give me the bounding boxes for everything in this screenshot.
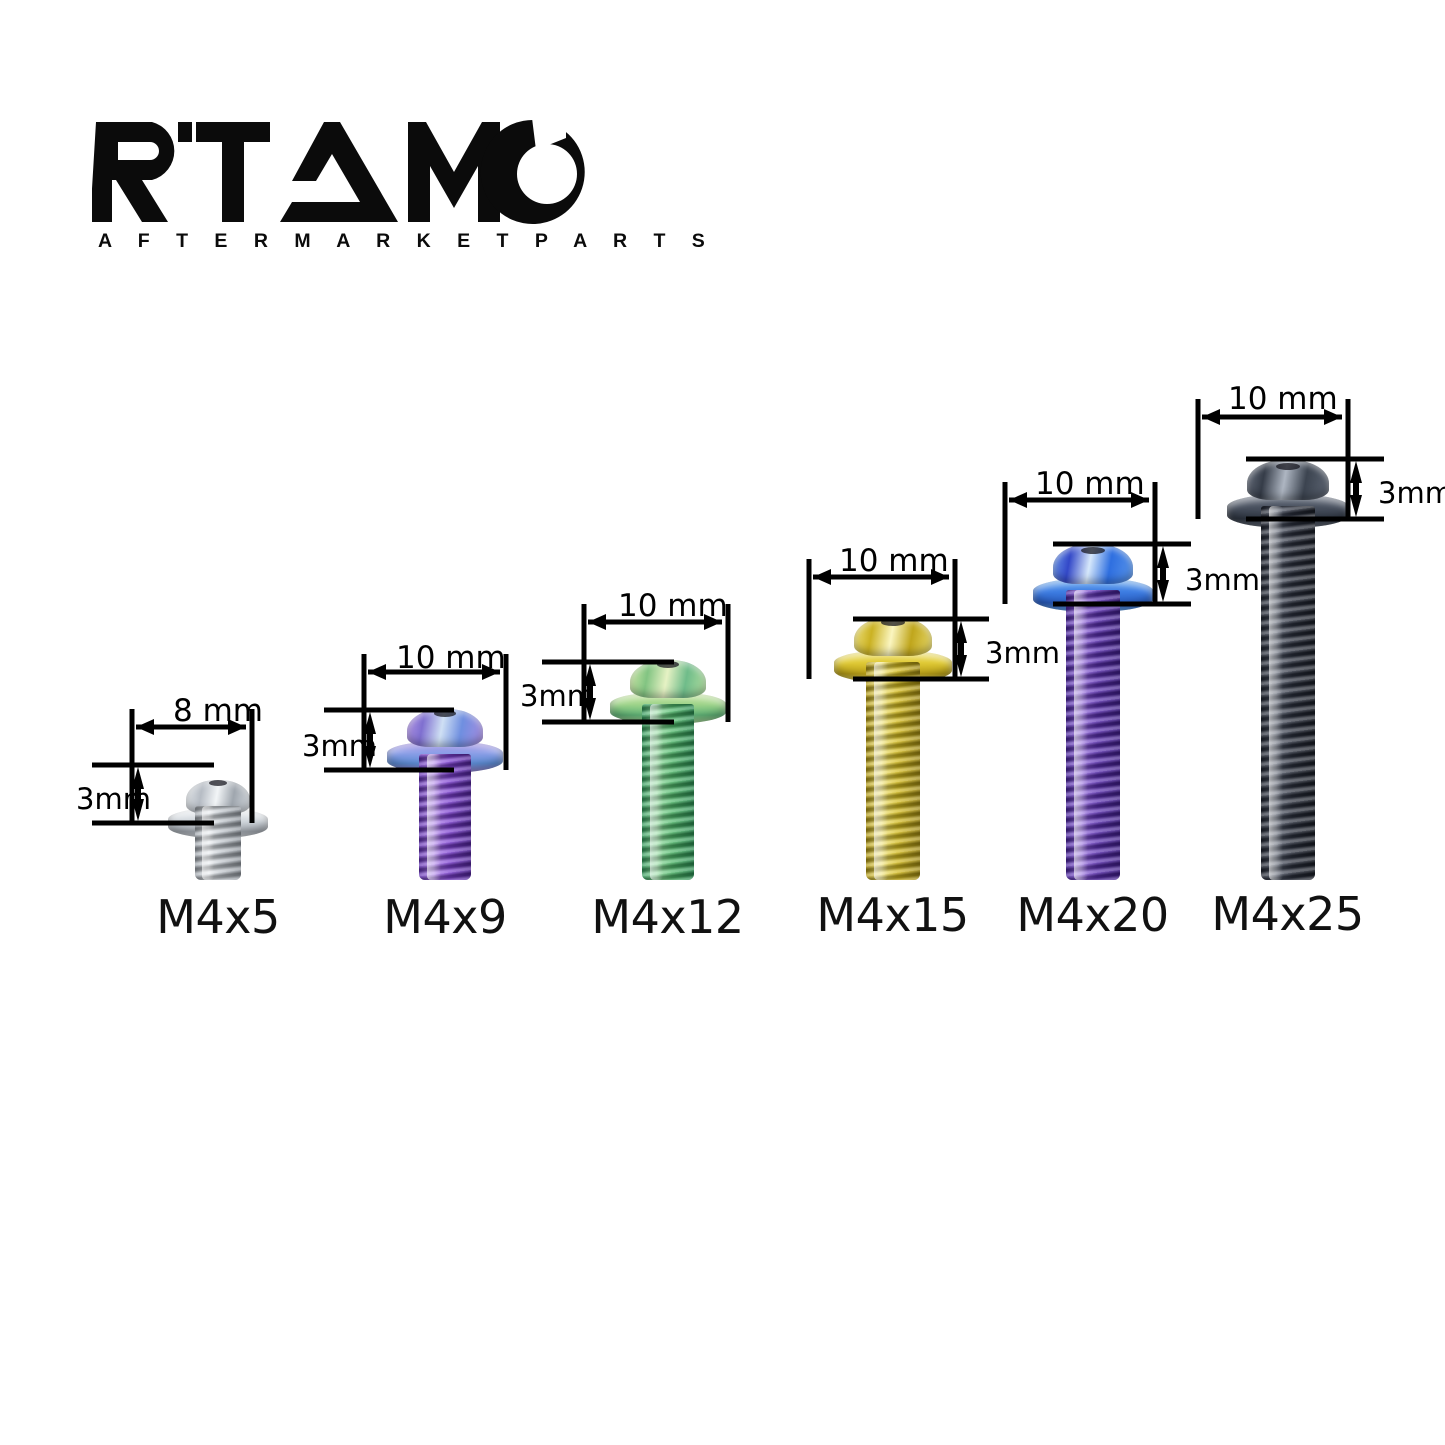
head-height-label: 3mm [520, 679, 595, 713]
size-label: M4x15 [816, 888, 968, 942]
head-width-label: 10 mm [396, 640, 506, 676]
size-label: M4x20 [1016, 888, 1168, 942]
product-image-canvas: A F T E R M A R K E T P A R T S [0, 0, 1445, 1445]
head-width-label: 10 mm [618, 588, 728, 624]
head-width-label: 10 mm [839, 543, 949, 579]
head-height-label: 3mm [76, 782, 151, 816]
product-item-m4x9: 10 mm 3mm M4x9 [340, 650, 550, 950]
head-height-label: 3mm [1378, 476, 1445, 510]
product-item-m4x5: 8 mm 3mm M4x5 [118, 705, 318, 950]
head-width-label: 10 mm [1035, 466, 1145, 502]
head-width-label: 8 mm [173, 693, 263, 729]
head-height-label: 3mm [302, 729, 377, 763]
head-width-label: 10 mm [1228, 381, 1338, 417]
product-item-m4x25: 10 mm 3mm M4x25 [1180, 395, 1395, 950]
size-label: M4x9 [383, 890, 506, 944]
size-label: M4x5 [156, 890, 279, 944]
product-item-m4x15: 10 mm 3mm M4x15 [785, 555, 1000, 950]
dimension-lines [1172, 391, 1402, 581]
rtamo-wordmark-icon [92, 118, 587, 226]
product-item-m4x12: 10 mm 3mm M4x12 [560, 600, 775, 950]
brand-tagline: A F T E R M A R K E T P A R T S [98, 230, 715, 253]
product-item-m4x20: 10 mm 3mm M4x20 [985, 480, 1200, 950]
size-label: M4x25 [1211, 887, 1363, 941]
size-label: M4x12 [591, 890, 743, 944]
dimension-lines [775, 551, 1005, 741]
brand-logo: A F T E R M A R K E T P A R T S [92, 118, 592, 268]
